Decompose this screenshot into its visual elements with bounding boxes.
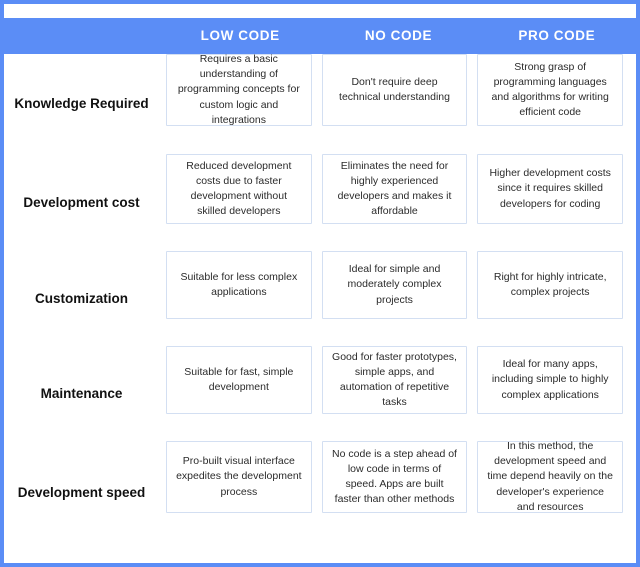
row-cells: Reduced development costs due to faster … bbox=[161, 154, 636, 251]
table-row: Knowledge Required Requires a basic unde… bbox=[4, 54, 636, 154]
row-label-maintenance: Maintenance bbox=[4, 385, 161, 402]
table-row: Development speed Pro-built visual inter… bbox=[4, 441, 636, 545]
column-header-no-code: NO CODE bbox=[319, 29, 477, 43]
cell-development-cost-no-code: Eliminates the need for highly experienc… bbox=[322, 154, 468, 224]
cell-text: Suitable for less complex applications bbox=[176, 270, 302, 300]
row-label-customization: Customization bbox=[4, 290, 161, 307]
cell-text: Right for highly intricate, complex proj… bbox=[487, 270, 613, 300]
cell-text: Higher development costs since it requir… bbox=[487, 166, 613, 212]
cell-customization-no-code: Ideal for simple and moderately complex … bbox=[322, 251, 468, 319]
column-header-low-code: LOW CODE bbox=[161, 29, 319, 43]
cell-text: Don't require deep technical understandi… bbox=[332, 75, 458, 105]
column-header-pro-code: PRO CODE bbox=[478, 29, 636, 43]
cell-text: Eliminates the need for highly experienc… bbox=[332, 159, 458, 220]
cell-development-cost-low-code: Reduced development costs due to faster … bbox=[166, 154, 312, 224]
cell-text: Strong grasp of programming languages an… bbox=[487, 60, 613, 121]
cell-text: No code is a step ahead of low code in t… bbox=[332, 447, 458, 508]
cell-maintenance-no-code: Good for faster prototypes, simple apps,… bbox=[322, 346, 468, 414]
row-label-knowledge-required: Knowledge Required bbox=[4, 95, 161, 112]
table-body: Knowledge Required Requires a basic unde… bbox=[4, 54, 636, 545]
row-label-development-speed: Development speed bbox=[4, 484, 161, 501]
cell-knowledge-required-low-code: Requires a basic understanding of progra… bbox=[166, 54, 312, 126]
row-cells: Requires a basic understanding of progra… bbox=[161, 54, 636, 154]
cell-knowledge-required-pro-code: Strong grasp of programming languages an… bbox=[477, 54, 623, 126]
cell-maintenance-pro-code: Ideal for many apps, including simple to… bbox=[477, 346, 623, 414]
cell-text: Ideal for many apps, including simple to… bbox=[487, 357, 613, 403]
cell-maintenance-low-code: Suitable for fast, simple development bbox=[166, 346, 312, 414]
table-row: Customization Suitable for less complex … bbox=[4, 251, 636, 346]
table-row: Development cost Reduced development cos… bbox=[4, 154, 636, 251]
cell-customization-pro-code: Right for highly intricate, complex proj… bbox=[477, 251, 623, 319]
cell-knowledge-required-no-code: Don't require deep technical understandi… bbox=[322, 54, 468, 126]
cell-development-cost-pro-code: Higher development costs since it requir… bbox=[477, 154, 623, 224]
cell-text: Pro-built visual interface expedites the… bbox=[176, 454, 302, 500]
cell-development-speed-low-code: Pro-built visual interface expedites the… bbox=[166, 441, 312, 513]
cell-development-speed-pro-code: In this method, the development speed an… bbox=[477, 441, 623, 513]
comparison-table-card: LOW CODE NO CODE PRO CODE Knowledge Requ… bbox=[0, 0, 640, 567]
cell-text: Requires a basic understanding of progra… bbox=[176, 52, 302, 128]
cell-text: Ideal for simple and moderately complex … bbox=[332, 262, 458, 308]
table-header-row: LOW CODE NO CODE PRO CODE bbox=[4, 18, 636, 54]
cell-development-speed-no-code: No code is a step ahead of low code in t… bbox=[322, 441, 468, 513]
row-cells: Suitable for fast, simple development Go… bbox=[161, 346, 636, 441]
cell-customization-low-code: Suitable for less complex applications bbox=[166, 251, 312, 319]
cell-text: Good for faster prototypes, simple apps,… bbox=[332, 350, 458, 411]
row-cells: Suitable for less complex applications I… bbox=[161, 251, 636, 346]
table-row: Maintenance Suitable for fast, simple de… bbox=[4, 346, 636, 441]
cell-text: Reduced development costs due to faster … bbox=[176, 159, 302, 220]
row-label-development-cost: Development cost bbox=[4, 194, 161, 211]
cell-text: Suitable for fast, simple development bbox=[176, 365, 302, 395]
row-cells: Pro-built visual interface expedites the… bbox=[161, 441, 636, 545]
cell-text: In this method, the development speed an… bbox=[487, 439, 613, 515]
